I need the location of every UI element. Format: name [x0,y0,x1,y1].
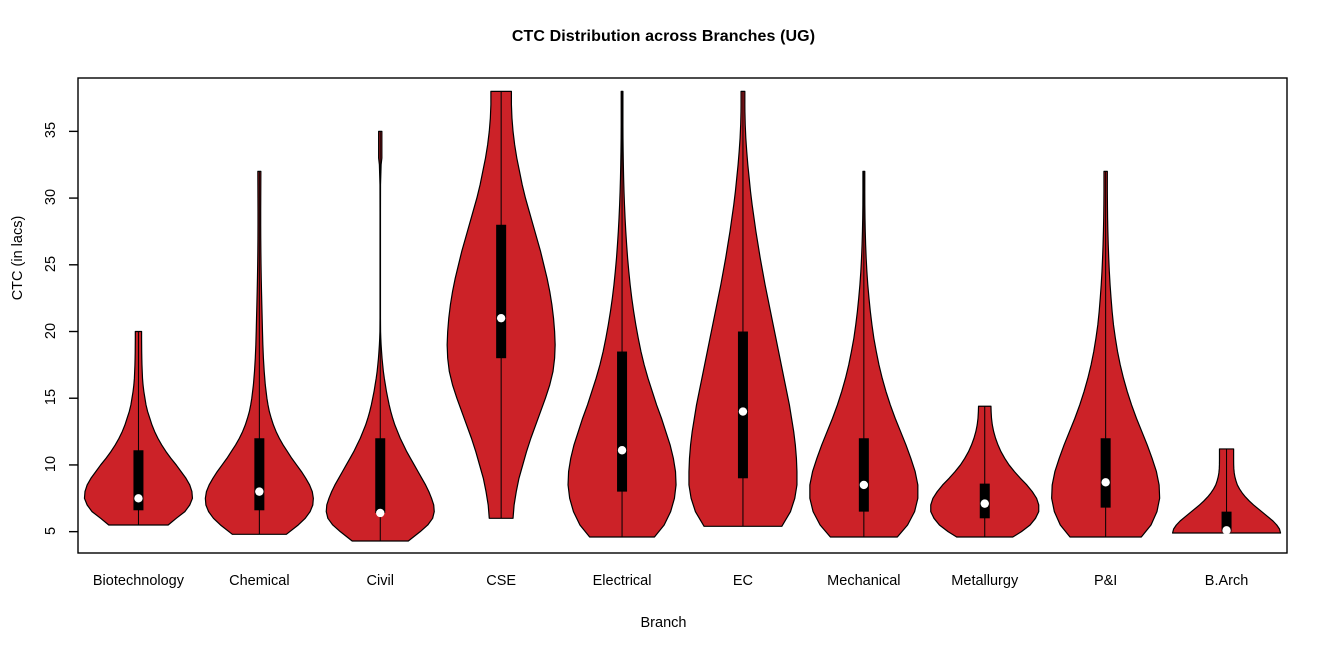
y-tick-label: 20 [43,318,59,344]
x-tick-label-civil: Civil [367,573,394,589]
violin-ec[interactable] [689,91,797,526]
iqr-box [254,438,264,510]
violin-p-i[interactable] [1052,171,1160,537]
violin-b-arch[interactable] [1173,449,1281,535]
x-tick-label-metallurgy: Metallurgy [951,573,1018,589]
median-marker [739,407,747,415]
violins-layer [84,91,1280,541]
x-tick-label-cse: CSE [486,573,516,589]
violin-chemical[interactable] [205,171,313,534]
iqr-box [617,352,627,492]
iqr-box [375,438,385,513]
y-tick-label: 35 [43,117,59,143]
median-marker [1101,478,1109,486]
x-tick-label-electrical: Electrical [593,573,652,589]
violin-cse[interactable] [447,91,555,518]
iqr-box [496,225,506,358]
median-marker [497,314,505,322]
y-tick-label: 10 [43,451,59,477]
median-marker [981,499,989,507]
x-tick-label-mechanical: Mechanical [827,573,900,589]
x-tick-label-biotechnology: Biotechnology [93,573,184,589]
x-tick-label-p-i: P&I [1094,573,1117,589]
x-tick-label-chemical: Chemical [229,573,289,589]
y-tick-label: 30 [43,184,59,210]
median-marker [255,487,263,495]
x-tick-label-b-arch: B.Arch [1205,573,1249,589]
y-tick-label: 15 [43,384,59,410]
violin-plot-figure: CTC Distribution across Branches (UG) CT… [0,0,1327,653]
violin-civil[interactable] [326,131,434,541]
x-tick-label-ec: EC [733,573,753,589]
iqr-box [738,332,748,479]
median-marker [134,494,142,502]
y-tick-label: 5 [43,518,59,544]
y-tick-label: 25 [43,251,59,277]
violin-metallurgy[interactable] [931,406,1039,537]
violin-electrical[interactable] [568,91,676,537]
iqr-box [859,438,869,511]
median-marker [1222,526,1230,534]
iqr-box [1101,438,1111,507]
violin-biotechnology[interactable] [84,332,192,525]
violin-mechanical[interactable] [810,171,918,537]
median-marker [618,446,626,454]
median-marker [376,509,384,517]
plot-area [0,0,1327,653]
median-marker [860,481,868,489]
